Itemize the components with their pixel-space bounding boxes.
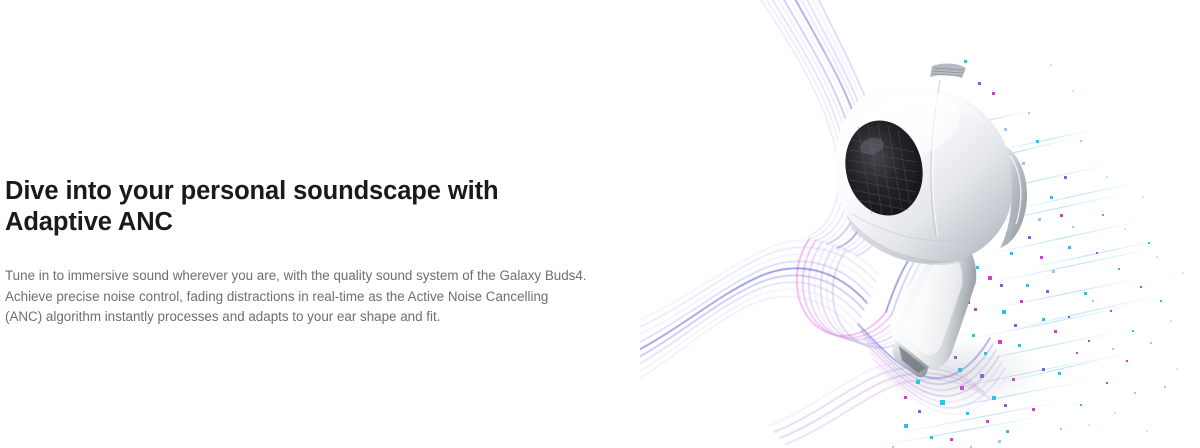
copy-block: Dive into your personal soundscape with … bbox=[5, 176, 605, 328]
product-visual bbox=[640, 0, 1200, 448]
body-paragraph: Tune in to immersive sound wherever you … bbox=[5, 238, 588, 328]
earbud-product bbox=[640, 0, 1200, 448]
promo-banner: Dive into your personal soundscape with … bbox=[0, 0, 1200, 448]
earbud-vent bbox=[930, 64, 966, 78]
page-title: Dive into your personal soundscape with … bbox=[5, 176, 580, 238]
